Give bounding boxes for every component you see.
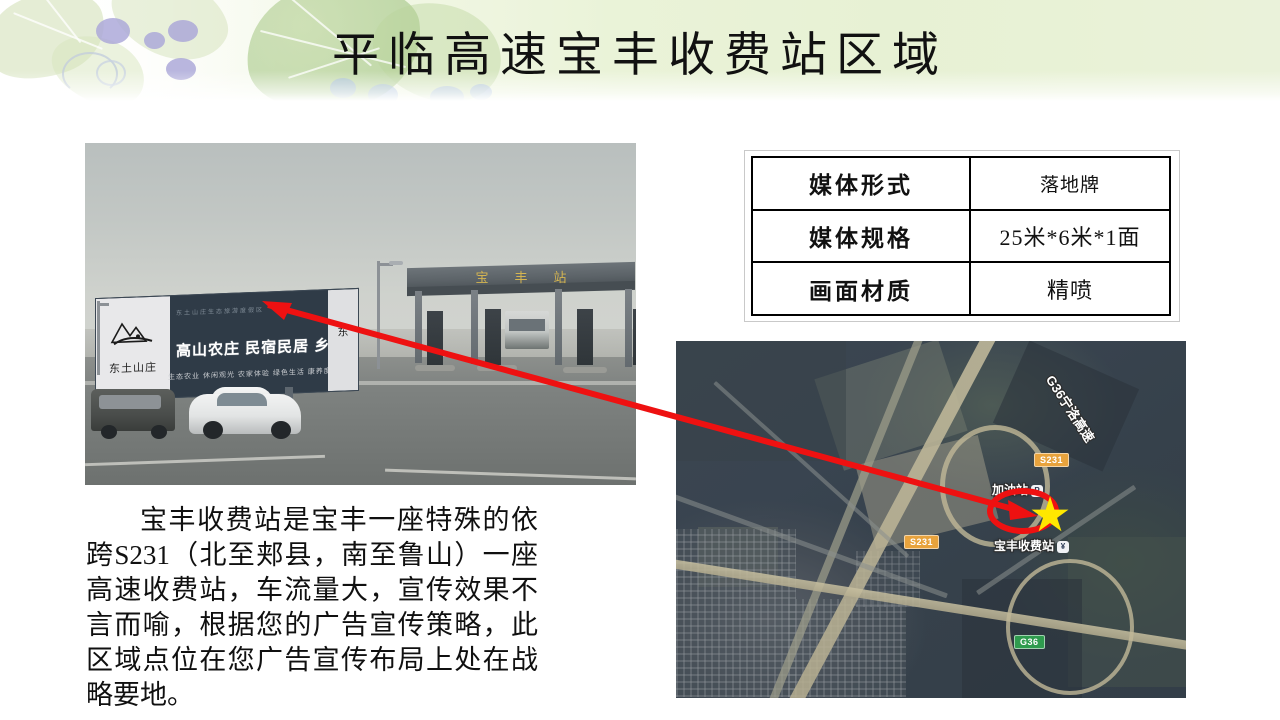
toll-booth: [427, 311, 443, 365]
table-row: 画面材质 精喷: [753, 263, 1169, 314]
table-cell-label: 画面材质: [753, 263, 971, 314]
map-star-marker-icon: ★: [1028, 497, 1072, 539]
toll-pillar: [625, 289, 632, 367]
page-title: 平临高速宝丰收费站区域: [0, 16, 1280, 85]
toll-station-pin-icon: ¥: [1057, 541, 1069, 553]
billboard: 东土山庄 东土山庄生态旅游度假区 高山农庄 民宿民居 乡村旅游 休闲养生 生态农…: [95, 288, 359, 401]
grape-icon: [470, 84, 492, 100]
billboard-top-text: 东土山庄生态旅游度假区: [176, 305, 264, 317]
table-cell-value: 落地牌: [971, 158, 1169, 209]
description-paragraph: 宝丰收费站是宝丰一座特殊的依跨S231（北至郏县，南至鲁山）一座高速收费站，车流…: [86, 503, 538, 713]
map-badge-s231: S231: [1034, 453, 1069, 467]
billboard-sub-text: 生态农业 休闲观光 农家体验 绿色生活 康养度假: [168, 366, 340, 383]
map-badge-g36: G36: [1014, 635, 1045, 649]
billboard-right-panel: [328, 289, 358, 391]
map-field: [676, 341, 846, 461]
map-badge-s231: S231: [904, 535, 939, 549]
toll-pillar: [555, 289, 562, 365]
table-row: 媒体规格 25米*6米*1面: [753, 211, 1169, 264]
billboard-logo-text: 东土山庄: [104, 358, 162, 376]
toll-island: [563, 367, 607, 373]
media-spec-table: 媒体形式 落地牌 媒体规格 25米*6米*1面 画面材质 精喷: [744, 150, 1180, 322]
mountain-logo-icon: [108, 315, 158, 351]
mountain-logo-svg: [108, 315, 158, 351]
table-cell-value: 精喷: [971, 263, 1169, 314]
vehicle-wheel: [151, 425, 167, 439]
toll-station-photo: 东土山庄 东土山庄生态旅游度假区 高山农庄 民宿民居 乡村旅游 休闲养生 生态农…: [85, 143, 636, 485]
table-cell-label: 媒体形式: [753, 158, 971, 209]
billboard-logo-panel: 东土山庄: [96, 296, 170, 400]
grape-icon: [368, 84, 398, 101]
street-lamp-arm: [97, 303, 109, 306]
toll-gate-sign: 宝丰站: [407, 267, 635, 286]
table-row: 媒体形式 落地牌: [753, 158, 1169, 211]
table-cell-label: 媒体规格: [753, 211, 971, 262]
street-lamp-pole: [97, 301, 100, 375]
truck-window: [509, 319, 545, 331]
street-lamp-pole: [377, 261, 380, 369]
map-urban-area: [676, 529, 796, 697]
toll-booth: [577, 309, 593, 365]
toll-island: [477, 365, 517, 371]
billboard-right-mark: 东: [332, 323, 354, 340]
vehicle-wheel: [101, 425, 117, 439]
white-car-windshield: [217, 393, 267, 406]
table-cell-value: 25米*6米*1面: [971, 211, 1169, 262]
toll-island: [415, 365, 455, 371]
toll-pillar: [415, 291, 422, 363]
toll-booth: [485, 309, 501, 365]
satellite-map: G36宁洛高速 S231 S231 G36 加油站P 宝丰收费站¥ ★: [676, 341, 1186, 698]
toll-booth: [633, 309, 636, 365]
toll-pillar: [471, 290, 478, 364]
map-interchange-ramp: [1006, 559, 1134, 695]
media-spec-table-inner: 媒体形式 落地牌 媒体规格 25米*6米*1面 画面材质 精喷: [751, 156, 1171, 316]
vehicle-wheel: [203, 421, 223, 439]
vehicle-wheel: [271, 421, 291, 439]
street-lamp-head: [389, 261, 403, 265]
grape-icon: [430, 86, 464, 101]
van-window: [99, 395, 161, 409]
